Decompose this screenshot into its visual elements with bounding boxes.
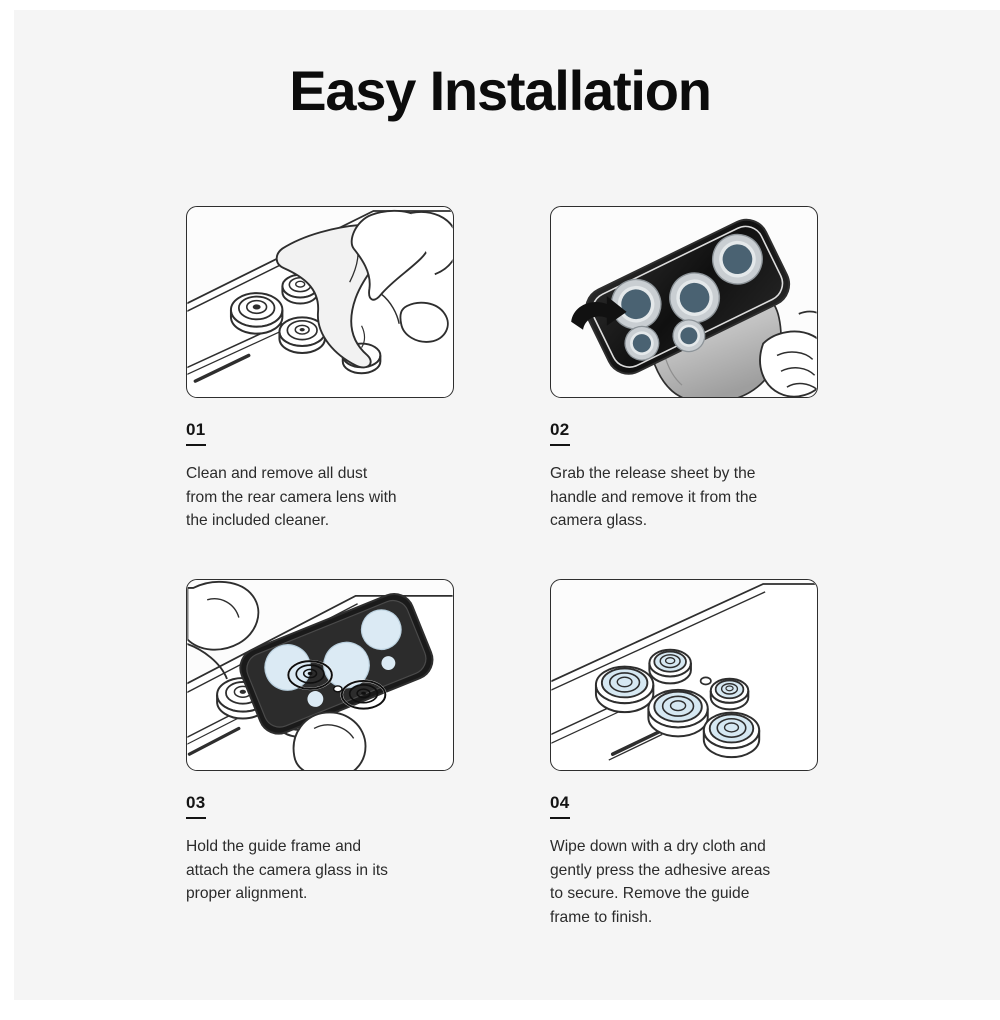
step-2-text: Grab the release sheet by the handle and… <box>550 462 812 533</box>
step-2-number: 02 <box>550 420 570 446</box>
steps-grid: 01 Clean and remove all dust from the re… <box>186 206 816 930</box>
installed-protectors-icon <box>551 580 817 770</box>
step-1-text: Clean and remove all dust from the rear … <box>186 462 448 533</box>
step-1-illustration <box>186 206 454 398</box>
step-4-illustration <box>550 579 818 771</box>
step-4-number: 04 <box>550 793 570 819</box>
step-1: 01 Clean and remove all dust from the re… <box>186 206 454 533</box>
step-4-text: Wipe down with a dry cloth and gently pr… <box>550 835 812 930</box>
steps-row-1: 01 Clean and remove all dust from the re… <box>186 206 816 533</box>
page-title: Easy Installation <box>0 58 1000 123</box>
guide-frame-alignment-icon <box>187 580 453 770</box>
step-2: 02 Grab the release sheet by the handle … <box>550 206 818 533</box>
step-3-text: Hold the guide frame and attach the came… <box>186 835 448 906</box>
step-3-number: 03 <box>186 793 206 819</box>
step-1-number: 01 <box>186 420 206 446</box>
step-3-illustration <box>186 579 454 771</box>
installation-guide-page: Easy Installation <box>0 0 1000 1000</box>
step-2-illustration <box>550 206 818 398</box>
release-sheet-peel-icon <box>551 207 817 397</box>
step-3: 03 Hold the guide frame and attach the c… <box>186 579 454 930</box>
phone-lens-cleaning-icon <box>187 207 453 397</box>
steps-row-2: 03 Hold the guide frame and attach the c… <box>186 579 816 930</box>
step-4: 04 Wipe down with a dry cloth and gently… <box>550 579 818 930</box>
